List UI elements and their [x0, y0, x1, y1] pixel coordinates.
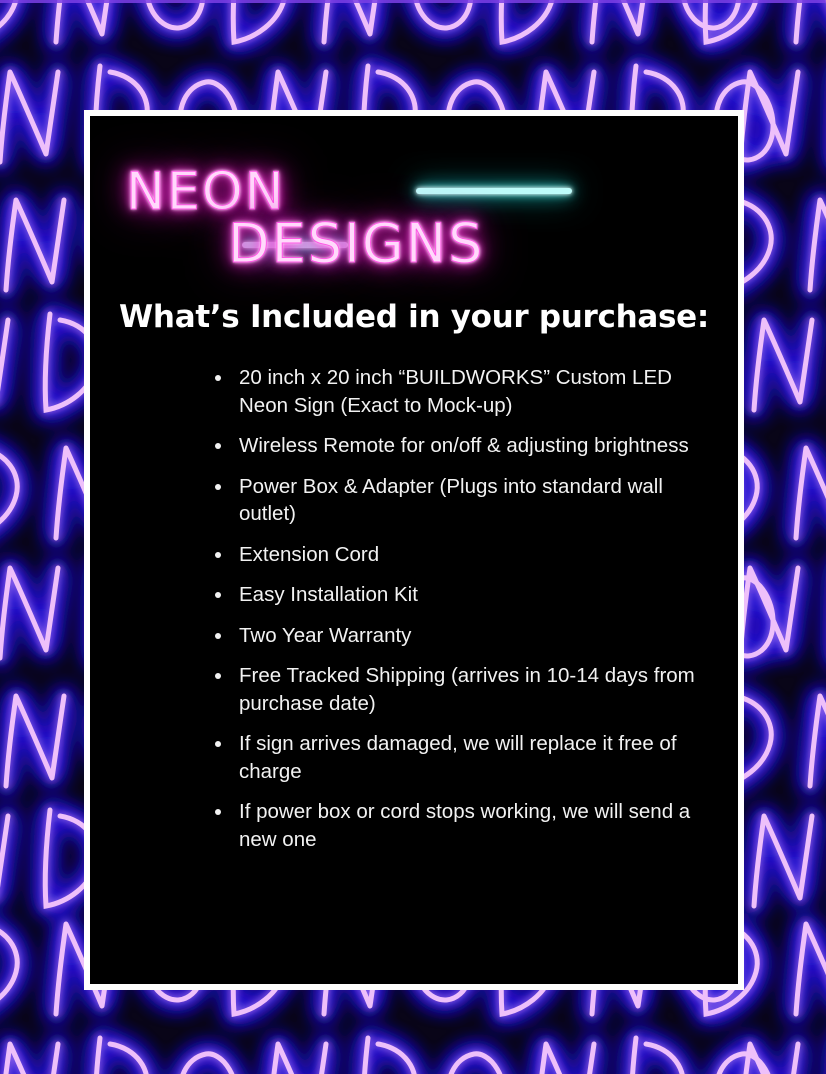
- logo-text-designs: DESIGNS: [228, 212, 484, 275]
- neon-designs-logo: NEON DESIGNS: [90, 150, 738, 300]
- list-item: Two Year Warranty: [212, 622, 704, 650]
- list-item: 20 inch x 20 inch “BUILDWORKS” Custom LE…: [212, 364, 704, 419]
- list-item: Extension Cord: [212, 541, 704, 569]
- list-item: Free Tracked Shipping (arrives in 10-14 …: [212, 662, 704, 717]
- list-item: If power box or cord stops working, we w…: [212, 798, 704, 853]
- top-edge-accent-line: [0, 0, 826, 3]
- cyan-bar-top-icon: [416, 188, 572, 194]
- list-item: If sign arrives damaged, we will replace…: [212, 730, 704, 785]
- card-body: NEON DESIGNS What’s Included in your pur…: [90, 116, 738, 984]
- benefits-list: 20 inch x 20 inch “BUILDWORKS” Custom LE…: [90, 364, 738, 853]
- product-info-card: NEON DESIGNS What’s Included in your pur…: [84, 110, 744, 990]
- list-item: Power Box & Adapter (Plugs into standard…: [212, 473, 704, 528]
- page-title: What’s Included in your purchase:: [90, 300, 738, 334]
- list-item: Wireless Remote for on/off & adjusting b…: [212, 432, 704, 460]
- list-item: Easy Installation Kit: [212, 581, 704, 609]
